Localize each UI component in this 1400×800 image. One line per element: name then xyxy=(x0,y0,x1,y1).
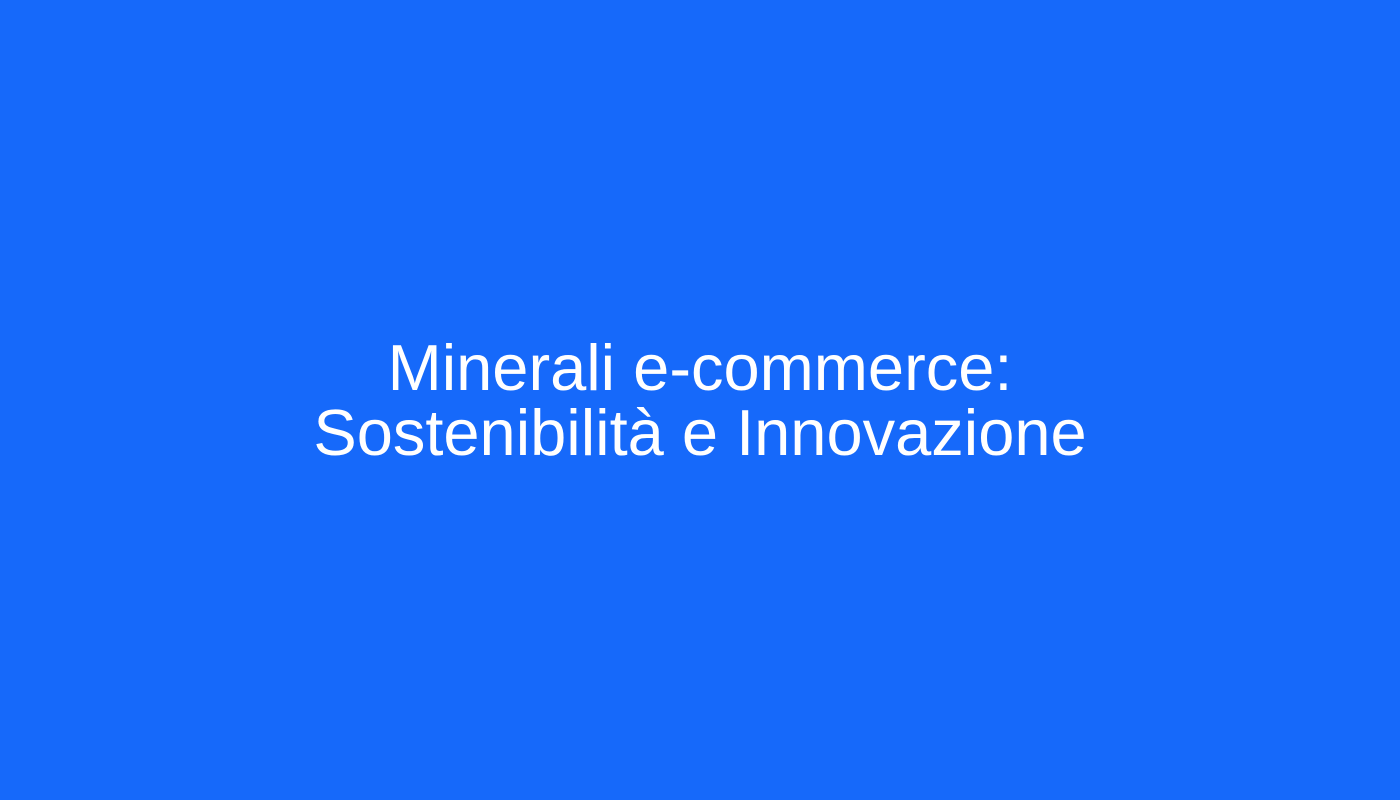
hero-banner: Minerali e-commerce: Sostenibilità e Inn… xyxy=(0,0,1400,800)
hero-content: Minerali e-commerce: Sostenibilità e Inn… xyxy=(210,335,1190,465)
page-title: Minerali e-commerce: Sostenibilità e Inn… xyxy=(210,335,1190,465)
